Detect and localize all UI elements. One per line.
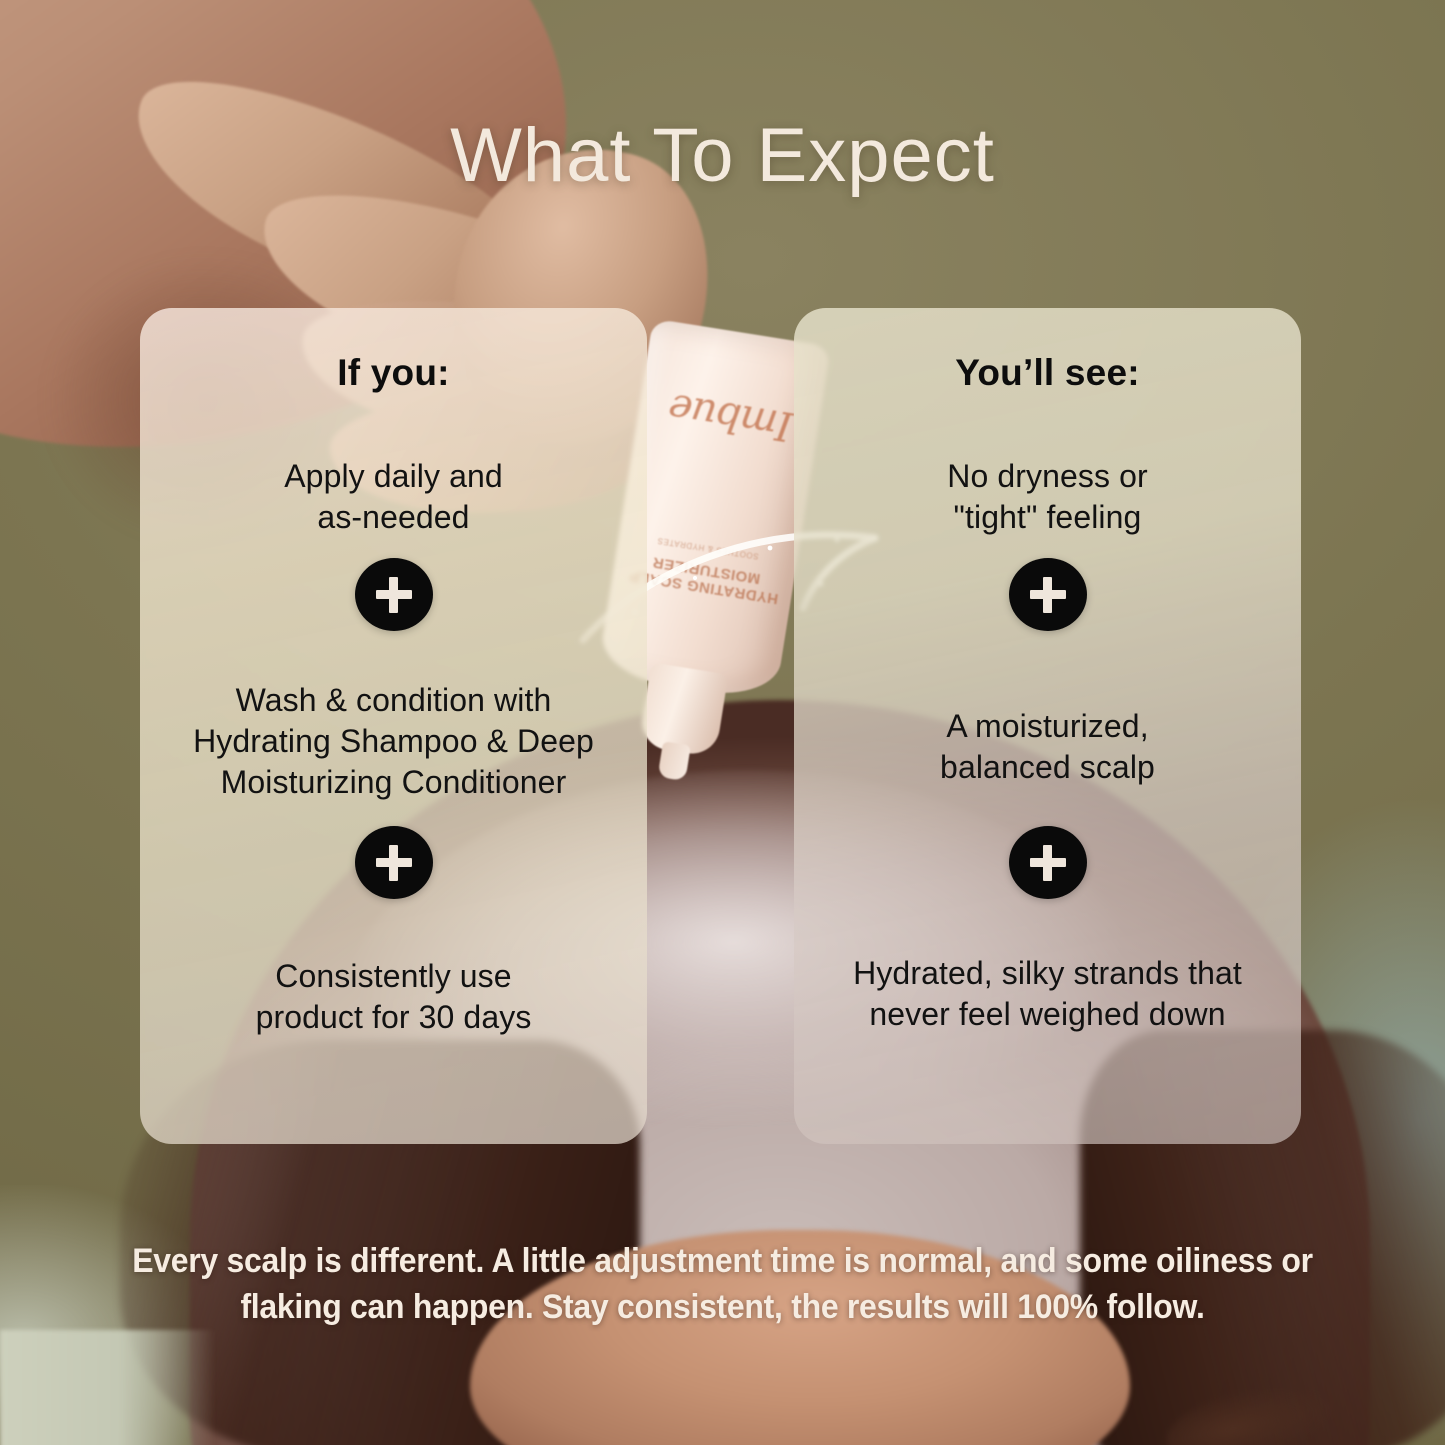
plus-icon [1009,826,1087,899]
plus-icon [355,826,433,899]
card-item: Apply daily and as-needed [150,456,637,538]
plus-icon [355,558,433,631]
plus-icon-bar-vertical [1043,845,1052,881]
card-heading-if-you: If you: [140,352,647,394]
infographic-canvas: Imbue SOOTHES & HYDRATES HYDRATING SCALP… [0,0,1445,1445]
plus-icon-bar-vertical [389,577,398,613]
card-item: Hydrated, silky strands that never feel … [804,953,1291,1035]
card-item: Wash & condition with Hydrating Shampoo … [150,680,637,803]
plus-icon-bar-vertical [1043,577,1052,613]
backdrop-bottom-left [0,1330,215,1445]
card-heading-youll-see: You’ll see: [794,352,1301,394]
card-youll-see: You’ll see: No dryness or "tight" feelin… [794,308,1301,1144]
footer-line1-post: is different. A little adjustment time i… [307,1242,1148,1280]
plus-icon-bar-vertical [389,845,398,881]
plus-icon [1009,558,1087,631]
footer-line1-bold: scalp [227,1242,307,1280]
card-if-you: If you: Apply daily and as-needed Wash &… [140,308,647,1144]
card-item: A moisturized, balanced scalp [804,706,1291,788]
bottle-cap [638,662,728,757]
page-title: What To Expect [0,112,1445,199]
card-item: No dryness or "tight" feeling [804,456,1291,538]
footer-disclaimer: Every scalp is different. A little adjus… [43,1238,1401,1330]
footer-line1-pre: Every [132,1242,226,1280]
card-item: Consistently use product for 30 days [150,956,637,1038]
